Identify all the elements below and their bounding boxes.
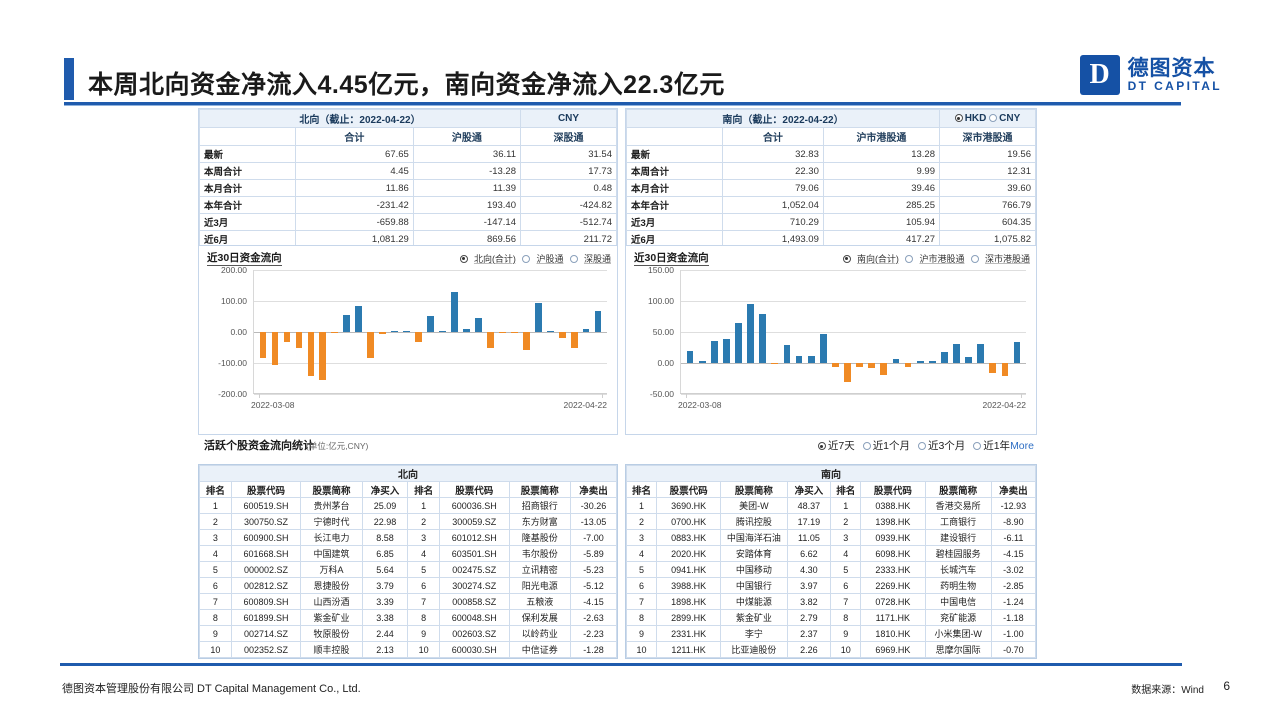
northbound-currency-label: CNY — [521, 110, 617, 128]
cell-sell: -8.90 — [991, 514, 1035, 530]
cell-rank: 10 — [627, 642, 657, 658]
bar-slot — [365, 270, 377, 394]
cell-rank2: 10 — [408, 642, 440, 658]
cell-name: 贵州茅台 — [301, 498, 362, 514]
cell-rank2: 9 — [831, 626, 861, 642]
cell-rank2: 6 — [831, 578, 861, 594]
table-header-row: 排名 股票代码 股票简称 净买入 排名 股票代码 股票简称 净卖出 — [627, 482, 1036, 498]
bar-slot — [696, 270, 708, 394]
cell-code2: 2333.HK — [861, 562, 925, 578]
cell-rank: 5 — [627, 562, 657, 578]
cell-code: 601668.SH — [231, 546, 300, 562]
cell-code2: 600048.SH — [440, 610, 509, 626]
table-row: 最新32.8313.2819.56 — [627, 146, 1036, 163]
bar-slot — [269, 270, 281, 394]
bar-positive — [735, 323, 742, 363]
bar-positive — [427, 316, 434, 332]
table-row: 7600809.SH山西汾酒3.397000858.SZ五粮液-4.15 — [200, 594, 617, 610]
plot-canvas — [253, 270, 607, 394]
filter-1month[interactable]: 近1个月 — [873, 440, 910, 452]
bar-positive — [699, 361, 706, 363]
cell-name2: 隆基股份 — [509, 530, 570, 546]
legend-southbound-total[interactable]: 南向(合计) — [857, 254, 899, 264]
cell-buy: 5.64 — [362, 562, 408, 578]
bar-positive — [583, 329, 590, 332]
cell-code: 3988.HK — [656, 578, 720, 594]
col-net-sell: 净卖出 — [570, 482, 616, 498]
bar-slot — [496, 270, 508, 394]
bar-slot — [720, 270, 732, 394]
bar-slot — [829, 270, 841, 394]
row-label: 本月合计 — [200, 180, 296, 197]
cell-name2: 中信证券 — [509, 642, 570, 658]
radio-sz-connect-icon[interactable] — [570, 255, 578, 263]
cell-rank2: 1 — [831, 498, 861, 514]
cell-name: 宁德时代 — [301, 514, 362, 530]
bar-slot — [999, 270, 1011, 394]
radio-sz-hk-connect-icon[interactable] — [971, 255, 979, 263]
bar-slot — [329, 270, 341, 394]
footer-company: 德图资本管理股份有限公司 DT Capital Management Co., … — [62, 680, 361, 696]
radio-northbound-total-icon[interactable] — [460, 255, 468, 263]
y-tick-label: 50.00 — [634, 327, 674, 337]
cell-buy: 11.05 — [787, 530, 831, 546]
cell-code2: 603501.SH — [440, 546, 509, 562]
bar-positive — [711, 341, 718, 363]
table-row: 6002812.SZ恩捷股份3.796300274.SZ阳光电源-5.12 — [200, 578, 617, 594]
cell-buy: 2.26 — [787, 642, 831, 658]
bar-positive — [451, 292, 458, 332]
row-label: 本周合计 — [627, 163, 723, 180]
cell-rank2: 1 — [408, 498, 440, 514]
cell-sell: -2.23 — [570, 626, 616, 642]
table-row: 42020.HK安踏体育6.6246098.HK碧桂园服务-4.15 — [627, 546, 1036, 562]
cell-sz: 0.48 — [521, 180, 617, 197]
title-accent-bar — [64, 58, 74, 100]
brand-logo: D 德图资本 DT CAPITAL — [1080, 55, 1222, 95]
table-column-header-row: 合计 沪股通 深股通 — [200, 128, 617, 146]
row-label: 近3月 — [627, 214, 723, 231]
cell-buy: 3.39 — [362, 594, 408, 610]
col-code-2: 股票代码 — [440, 482, 509, 498]
filter-1year[interactable]: 近1年 — [983, 440, 1010, 452]
bar-slot — [684, 270, 696, 394]
col-blank — [627, 128, 723, 146]
northbound-summary-table: 北向（截止：2022-04-22） CNY 合计 沪股通 深股通 最新67.65… — [199, 109, 617, 265]
bar-slot — [532, 270, 544, 394]
cell-name2: 招商银行 — [509, 498, 570, 514]
cell-buy: 6.85 — [362, 546, 408, 562]
cell-code2: 1398.HK — [861, 514, 925, 530]
cell-rank: 5 — [200, 562, 232, 578]
bar-slot — [305, 270, 317, 394]
cell-name2: 兖矿能源 — [925, 610, 991, 626]
cell-name2: 香港交易所 — [925, 498, 991, 514]
bar-positive — [759, 314, 766, 363]
cell-code2: 002475.SZ — [440, 562, 509, 578]
cell-total: 710.29 — [723, 214, 824, 231]
x-axis-end-label: 2022-04-22 — [564, 400, 607, 410]
bar-negative — [880, 363, 887, 375]
bar-positive — [687, 351, 694, 363]
bar-slot — [508, 270, 520, 394]
filter-7days[interactable]: 近7天 — [828, 440, 855, 452]
bar-positive — [1014, 342, 1021, 363]
table-row: 50941.HK中国移动4.3052333.HK长城汽车-3.02 — [627, 562, 1036, 578]
cell-sell: -6.11 — [991, 530, 1035, 546]
cell-sh: 9.99 — [823, 163, 939, 180]
cell-code: 600900.SH — [231, 530, 300, 546]
table-row: 近3月710.29105.94604.35 — [627, 214, 1036, 231]
cell-name: 紫金矿业 — [301, 610, 362, 626]
chart-header: 近30日资金流向 南向(合计) 沪市港股通 深市港股通 — [626, 246, 1036, 268]
cell-buy: 2.37 — [787, 626, 831, 642]
cell-rank2: 7 — [831, 594, 861, 610]
chart-header: 近30日资金流向 北向(合计) 沪股通 深股通 — [199, 246, 617, 268]
bar-slot — [793, 270, 805, 394]
col-total: 合计 — [296, 128, 414, 146]
bar-slot — [425, 270, 437, 394]
bar-negative — [844, 363, 851, 382]
bar-negative — [571, 332, 578, 348]
band-southbound: 南向 — [627, 466, 1036, 482]
logo-text: 德图资本 DT CAPITAL — [1128, 58, 1222, 93]
y-tick-label: 100.00 — [634, 296, 674, 306]
page-title: 本周北向资金净流入4.45亿元，南向资金净流入22.3亿元 — [64, 58, 725, 100]
bar-slot — [377, 270, 389, 394]
y-tick-label: -50.00 — [634, 389, 674, 399]
cell-rank: 3 — [627, 530, 657, 546]
cell-code: 2899.HK — [656, 610, 720, 626]
table-row: 71898.HK中煤能源3.8270728.HK中国电信-1.24 — [627, 594, 1036, 610]
radio-3months-icon[interactable] — [918, 442, 926, 450]
cell-sz: 17.73 — [521, 163, 617, 180]
cell-sh: 193.40 — [413, 197, 520, 214]
col-name: 股票简称 — [301, 482, 362, 498]
cell-rank: 2 — [627, 514, 657, 530]
cell-sh: 36.11 — [413, 146, 520, 163]
currency-toggle-group[interactable]: HKD CNY — [940, 110, 1036, 128]
table-row: 63988.HK中国银行3.9762269.HK药明生物-2.85 — [627, 578, 1036, 594]
cell-sell: -4.15 — [570, 594, 616, 610]
cell-name2: 工商银行 — [925, 514, 991, 530]
cell-sh: 11.39 — [413, 180, 520, 197]
cell-buy: 2.13 — [362, 642, 408, 658]
bar-positive — [953, 344, 960, 363]
bar-positive — [475, 318, 482, 332]
bar-negative — [771, 363, 778, 364]
y-tick-label: 100.00 — [207, 296, 247, 306]
table-row: 本月合计79.0639.4639.60 — [627, 180, 1036, 197]
bar-positive — [965, 357, 972, 363]
cell-code2: 000858.SZ — [440, 594, 509, 610]
cell-buy: 48.37 — [787, 498, 831, 514]
cell-rank2: 6 — [408, 578, 440, 594]
table-band-row: 南向 — [627, 466, 1036, 482]
bar-slot — [401, 270, 413, 394]
southbound-summary-table: 南向（截止：2022-04-22） HKD CNY 合计 沪市港股通 深市港股通… — [626, 109, 1036, 265]
legend-northbound-total[interactable]: 北向(合计) — [474, 254, 516, 264]
bar-slot — [841, 270, 853, 394]
bar-slot — [341, 270, 353, 394]
bar-positive — [535, 303, 542, 332]
cell-buy: 17.19 — [787, 514, 831, 530]
legend-sz-hk-connect[interactable]: 深市港股通 — [985, 254, 1030, 264]
bar-negative — [284, 332, 291, 342]
radio-7days-icon[interactable] — [818, 442, 826, 450]
bar-positive — [747, 304, 754, 363]
band-northbound: 北向 — [200, 466, 617, 482]
bar-negative — [523, 332, 530, 350]
cell-buy: 8.58 — [362, 530, 408, 546]
bar-slot — [437, 270, 449, 394]
table-row: 13690.HK美团-W48.3710388.HK香港交易所-12.93 — [627, 498, 1036, 514]
cell-sell: -12.93 — [991, 498, 1035, 514]
period-filter-group[interactable]: 近7天 近1个月 近3个月 近1年More — [818, 438, 1034, 453]
cell-rank: 4 — [627, 546, 657, 562]
cell-buy: 3.79 — [362, 578, 408, 594]
y-tick-label: 200.00 — [207, 265, 247, 275]
x-axis-start-label: 2022-03-08 — [251, 400, 294, 410]
table-row: 4601668.SH中国建筑6.854603501.SH韦尔股份-5.89 — [200, 546, 617, 562]
cell-rank: 9 — [627, 626, 657, 642]
cell-name: 中煤能源 — [721, 594, 787, 610]
bar-slot — [580, 270, 592, 394]
cell-name2: 以岭药业 — [509, 626, 570, 642]
cell-code: 2020.HK — [656, 546, 720, 562]
cell-total: -231.42 — [296, 197, 414, 214]
bar-slot — [975, 270, 987, 394]
cell-rank: 10 — [200, 642, 232, 658]
cell-sell: -7.00 — [570, 530, 616, 546]
col-code: 股票代码 — [231, 482, 300, 498]
cell-code2: 600036.SH — [440, 498, 509, 514]
cell-code2: 300274.SZ — [440, 578, 509, 594]
cell-total: 22.30 — [723, 163, 824, 180]
cell-sz: 31.54 — [521, 146, 617, 163]
cell-code2: 002603.SZ — [440, 626, 509, 642]
cell-sell: -1.18 — [991, 610, 1035, 626]
cell-sell: -13.05 — [570, 514, 616, 530]
bar-negative — [856, 363, 863, 367]
cell-rank2: 4 — [408, 546, 440, 562]
bar-slot — [745, 270, 757, 394]
radio-hkd-icon[interactable] — [955, 114, 963, 122]
cell-sell: -3.02 — [991, 562, 1035, 578]
filter-3months[interactable]: 近3个月 — [928, 440, 965, 452]
bar-positive — [820, 334, 827, 363]
bar-slot — [293, 270, 305, 394]
bar-series-northbound — [254, 270, 607, 394]
bar-positive — [547, 331, 554, 332]
table-row: 本月合计11.8611.390.48 — [200, 180, 617, 197]
bar-slot — [781, 270, 793, 394]
radio-1year-icon[interactable] — [973, 442, 981, 450]
cell-sh: -147.14 — [413, 214, 520, 231]
cell-total: 1,052.04 — [723, 197, 824, 214]
currency-option-hkd[interactable]: HKD — [965, 113, 987, 124]
cell-code2: 2269.HK — [861, 578, 925, 594]
bar-slot — [938, 270, 950, 394]
legend-sh-hk-connect[interactable]: 沪市港股通 — [919, 254, 964, 264]
cell-name: 比亚迪股份 — [721, 642, 787, 658]
table-header-row: 北向（截止：2022-04-22） CNY — [200, 110, 617, 128]
cell-buy: 6.62 — [787, 546, 831, 562]
cell-code: 002352.SZ — [231, 642, 300, 658]
cell-code2: 0939.HK — [861, 530, 925, 546]
cell-total: 79.06 — [723, 180, 824, 197]
legend-sh-connect[interactable]: 沪股通 — [536, 254, 563, 264]
col-rank-2: 排名 — [831, 482, 861, 498]
northbound-stock-table-wrap: 北向 排名 股票代码 股票简称 净买入 排名 股票代码 股票简称 净卖出 160… — [198, 464, 618, 659]
chart-legend[interactable]: 南向(合计) 沪市港股通 深市港股通 — [843, 252, 1030, 265]
bar-negative — [319, 332, 326, 380]
radio-sh-connect-icon[interactable] — [522, 255, 530, 263]
cell-code2: 1171.HK — [861, 610, 925, 626]
cell-rank: 8 — [200, 610, 232, 626]
table-row: 30883.HK中国海洋石油11.0530939.HK建设银行-6.11 — [627, 530, 1036, 546]
bar-slot — [866, 270, 878, 394]
cell-name: 中国银行 — [721, 578, 787, 594]
table-row: 20700.HK腾讯控股17.1921398.HK工商银行-8.90 — [627, 514, 1036, 530]
bar-slot — [902, 270, 914, 394]
cell-code: 002714.SZ — [231, 626, 300, 642]
row-label: 本月合计 — [627, 180, 723, 197]
cell-code: 0883.HK — [656, 530, 720, 546]
cell-sell: -0.70 — [991, 642, 1035, 658]
radio-1month-icon[interactable] — [863, 442, 871, 450]
footer-data-source: 数据来源：Wind — [1131, 681, 1204, 696]
cell-code: 000002.SZ — [231, 562, 300, 578]
bar-positive — [343, 315, 350, 332]
cell-name2: 五粮液 — [509, 594, 570, 610]
cell-code: 1211.HK — [656, 642, 720, 658]
cell-code2: 1810.HK — [861, 626, 925, 642]
col-total: 合计 — [723, 128, 824, 146]
northbound-header-title: 北向（截止：2022-04-22） — [200, 110, 521, 128]
cell-rank: 1 — [200, 498, 232, 514]
table-band-row: 北向 — [200, 466, 617, 482]
bar-negative — [487, 332, 494, 348]
more-link[interactable]: More — [1010, 440, 1034, 452]
table-row: 92331.HK李宁2.3791810.HK小米集团-W-1.00 — [627, 626, 1036, 642]
radio-cny-icon[interactable] — [989, 114, 997, 122]
radio-southbound-total-icon[interactable] — [843, 255, 851, 263]
chart-legend[interactable]: 北向(合计) 沪股通 深股通 — [460, 252, 611, 265]
chart-title: 近30日资金流向 — [634, 250, 709, 266]
cell-name: 腾讯控股 — [721, 514, 787, 530]
table-row: 1600519.SH贵州茅台25.091600036.SH招商银行-30.26 — [200, 498, 617, 514]
cell-name: 李宁 — [721, 626, 787, 642]
table-row: 本周合计4.45-13.2817.73 — [200, 163, 617, 180]
col-code-2: 股票代码 — [861, 482, 925, 498]
chart-plot-area: 200.00 100.00 0.00 -100.00 -200.00 2022-… — [207, 270, 609, 412]
cell-name: 恩捷股份 — [301, 578, 362, 594]
row-label: 最新 — [200, 146, 296, 163]
cell-sh: 39.46 — [823, 180, 939, 197]
bar-negative — [511, 332, 518, 333]
stock-section-title: 活跃个股资金流向统计 — [204, 437, 314, 453]
table-row: 9002714.SZ牧原股份2.449002603.SZ以岭药业-2.23 — [200, 626, 617, 642]
cell-buy: 3.82 — [787, 594, 831, 610]
bar-positive — [439, 331, 446, 332]
bar-slot — [460, 270, 472, 394]
cell-rank: 3 — [200, 530, 232, 546]
bar-negative — [308, 332, 315, 376]
bar-positive — [595, 311, 602, 332]
cell-sell: -5.23 — [570, 562, 616, 578]
table-header-row: 南向（截止：2022-04-22） HKD CNY — [627, 110, 1036, 128]
bar-negative — [559, 332, 566, 338]
cell-total: 11.86 — [296, 180, 414, 197]
col-net-buy: 净买入 — [362, 482, 408, 498]
cell-code: 600519.SH — [231, 498, 300, 514]
col-sz-hk-connect: 深市港股通 — [940, 128, 1036, 146]
cell-sell: -2.63 — [570, 610, 616, 626]
table-row: 3600900.SH长江电力8.583601012.SH隆基股份-7.00 — [200, 530, 617, 546]
currency-option-cny[interactable]: CNY — [999, 113, 1020, 124]
bar-slot — [544, 270, 556, 394]
bar-negative — [367, 332, 374, 358]
y-tick-label: 0.00 — [207, 327, 247, 337]
cell-sh: -13.28 — [413, 163, 520, 180]
cell-name2: 建设银行 — [925, 530, 991, 546]
cell-sell: -30.26 — [570, 498, 616, 514]
cell-code2: 600030.SH — [440, 642, 509, 658]
col-sz-connect: 深股通 — [521, 128, 617, 146]
cell-buy: 3.38 — [362, 610, 408, 626]
bar-slot — [568, 270, 580, 394]
cell-sz: -512.74 — [521, 214, 617, 231]
table-row: 本年合计-231.42193.40-424.82 — [200, 197, 617, 214]
col-sh-connect: 沪股通 — [413, 128, 520, 146]
slide: 本周北向资金净流入4.45亿元，南向资金净流入22.3亿元 D 德图资本 DT … — [0, 0, 1280, 720]
bar-slot — [817, 270, 829, 394]
bar-negative — [272, 332, 279, 365]
southbound-header-title: 南向（截止：2022-04-22） — [627, 110, 940, 128]
title-text: 本周北向资金净流入4.45亿元，南向资金净流入22.3亿元 — [88, 73, 725, 100]
cell-sz: 604.35 — [940, 214, 1036, 231]
col-name-2: 股票简称 — [509, 482, 570, 498]
radio-sh-hk-connect-icon[interactable] — [905, 255, 913, 263]
col-rank: 排名 — [200, 482, 232, 498]
table-row: 2300750.SZ宁德时代22.982300059.SZ东方财富-13.05 — [200, 514, 617, 530]
bar-slot — [708, 270, 720, 394]
bar-negative — [868, 363, 875, 368]
table-row: 10002352.SZ顺丰控股2.1310600030.SH中信证券-1.28 — [200, 642, 617, 658]
cell-code2: 0728.HK — [861, 594, 925, 610]
table-row: 82899.HK紫金矿业2.7981171.HK兖矿能源-1.18 — [627, 610, 1036, 626]
cell-name2: 思摩尔国际 — [925, 642, 991, 658]
cell-rank2: 10 — [831, 642, 861, 658]
y-tick-label: -100.00 — [207, 358, 247, 368]
table-row: 8601899.SH紫金矿业3.388600048.SH保利发展-2.63 — [200, 610, 617, 626]
bar-slot — [257, 270, 269, 394]
y-tick-label: 0.00 — [634, 358, 674, 368]
legend-sz-connect[interactable]: 深股通 — [584, 254, 611, 264]
cell-rank2: 5 — [831, 562, 861, 578]
cell-rank2: 3 — [831, 530, 861, 546]
cell-sell: -1.28 — [570, 642, 616, 658]
bar-positive — [808, 356, 815, 363]
cell-name: 山西汾酒 — [301, 594, 362, 610]
cell-buy: 2.44 — [362, 626, 408, 642]
table-row: 本年合计1,052.04285.25766.79 — [627, 197, 1036, 214]
col-net-buy: 净买入 — [787, 482, 831, 498]
y-tick-label: -200.00 — [207, 389, 247, 399]
cell-code2: 6098.HK — [861, 546, 925, 562]
bar-slot — [1011, 270, 1023, 394]
